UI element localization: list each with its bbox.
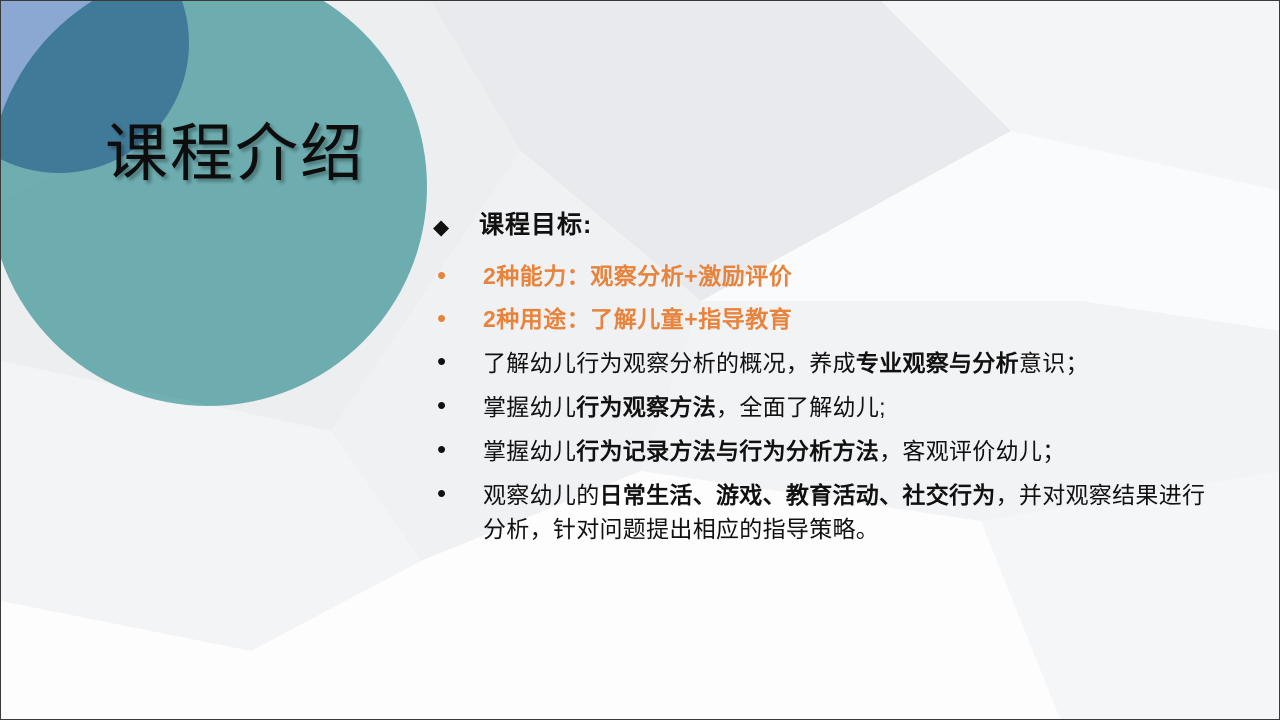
list-item-label: 2种能力：观察分析+激励评价 [483,260,792,293]
body-text: 掌握幼儿 [483,394,576,420]
bullet-dot-icon: • [433,346,483,374]
body-text: ，客观评价幼儿； [879,438,1065,464]
list-item: •了解幼儿行为观察分析的概况，养成专业观察与分析意识； [433,346,1223,380]
body-text: 意识； [1019,350,1089,376]
presentation-slide: 课程介绍 ◆ 课程目标: •2种能力：观察分析+激励评价•2种用途：了解儿童+指… [0,0,1280,720]
bullet-dot-icon: • [433,260,483,288]
list-item-label: 2种用途：了解儿童+指导教育 [483,303,792,336]
bullet-dot-icon: • [433,390,483,418]
list-item-label: 掌握幼儿行为观察方法，全面了解幼儿; [483,390,886,424]
body-text: 了解幼儿行为观察分析的概况，养成 [483,350,856,376]
emphasis-text: 行为观察方法 [576,394,716,420]
list-item-label: 掌握幼儿行为记录方法与行为分析方法，客观评价幼儿； [483,434,1066,468]
list-item-label: 观察幼儿的日常生活、游戏、教育活动、社交行为，并对观察结果进行分析，针对问题提出… [483,478,1223,546]
list-item: •2种用途：了解儿童+指导教育 [433,303,1223,336]
body-text: ，全面了解幼儿; [716,394,886,420]
list-item: •2种能力：观察分析+激励评价 [433,260,1223,293]
emphasis-text: 2种用途：了解儿童+指导教育 [483,306,792,332]
bullet-dot-icon: • [433,478,483,506]
body-text: 掌握幼儿 [483,438,576,464]
page-title: 课程介绍 [105,119,395,190]
heading-label: 课程目标: [479,209,592,242]
list-item-label: 了解幼儿行为观察分析的概况，养成专业观察与分析意识； [483,346,1089,380]
diamond-bullet-icon: ◆ [433,209,479,238]
emphasis-text: 专业观察与分析 [856,350,1019,376]
emphasis-text: 2种能力：观察分析+激励评价 [483,263,792,289]
list-item-heading: ◆ 课程目标: [433,209,1223,242]
bullet-dot-icon: • [433,434,483,462]
bullet-container: •2种能力：观察分析+激励评价•2种用途：了解儿童+指导教育•了解幼儿行为观察分… [433,260,1223,547]
body-text: 观察幼儿的 [483,482,600,508]
emphasis-text: 日常生活、游戏、教育活动、社交行为 [600,482,996,508]
emphasis-text: 行为记录方法与行为分析方法 [576,438,879,464]
list-item: •掌握幼儿行为记录方法与行为分析方法，客观评价幼儿； [433,434,1223,468]
list-item: •观察幼儿的日常生活、游戏、教育活动、社交行为，并对观察结果进行分析，针对问题提… [433,478,1223,546]
list-item: •掌握幼儿行为观察方法，全面了解幼儿; [433,390,1223,424]
bullet-dot-icon: • [433,303,483,331]
content-list: ◆ 课程目标: •2种能力：观察分析+激励评价•2种用途：了解儿童+指导教育•了… [433,209,1223,556]
